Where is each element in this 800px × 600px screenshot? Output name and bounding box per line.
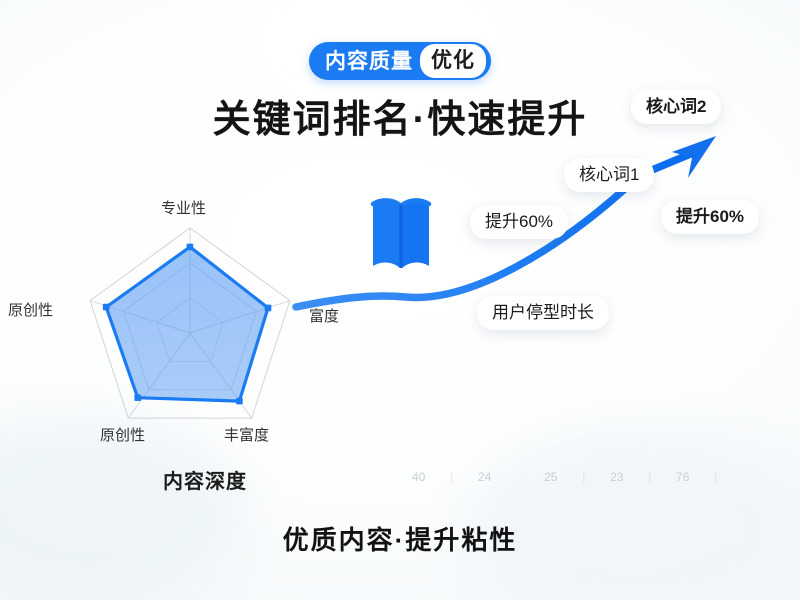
label-core-keyword-1[interactable]: 核心词1 — [564, 158, 654, 192]
scale-mark: | — [623, 470, 676, 484]
scale-tick-1: 24 — [478, 470, 491, 484]
scale-mark: | — [689, 470, 742, 484]
scale-mark — [491, 470, 544, 484]
poster-canvas: 内容质量 优化 关键词排名·快速提升 — [0, 0, 800, 600]
label-user-dwell-time[interactable]: 用户停型时长 — [477, 296, 609, 330]
scale-mark: | — [557, 470, 610, 484]
label-core-keyword-2[interactable]: 核心词2 — [631, 90, 721, 124]
scale-mark: | — [425, 470, 478, 484]
footer-slogan: 优质内容·提升粘性 — [0, 520, 800, 557]
scale-tick-3: 23 — [610, 470, 623, 484]
scale-tick-0: 40 — [412, 470, 425, 484]
label-increase-right[interactable]: 提升60% — [661, 200, 759, 234]
open-book-icon — [370, 188, 432, 272]
caption-content-depth: 内容深度 — [163, 465, 247, 494]
faint-scale-ruler: 40 | 24 25 | 23 | 76 | — [412, 466, 742, 488]
scale-tick-4: 76 — [676, 470, 689, 484]
scale-tick-2: 25 — [544, 470, 557, 484]
label-increase-left[interactable]: 提升60% — [470, 205, 568, 239]
